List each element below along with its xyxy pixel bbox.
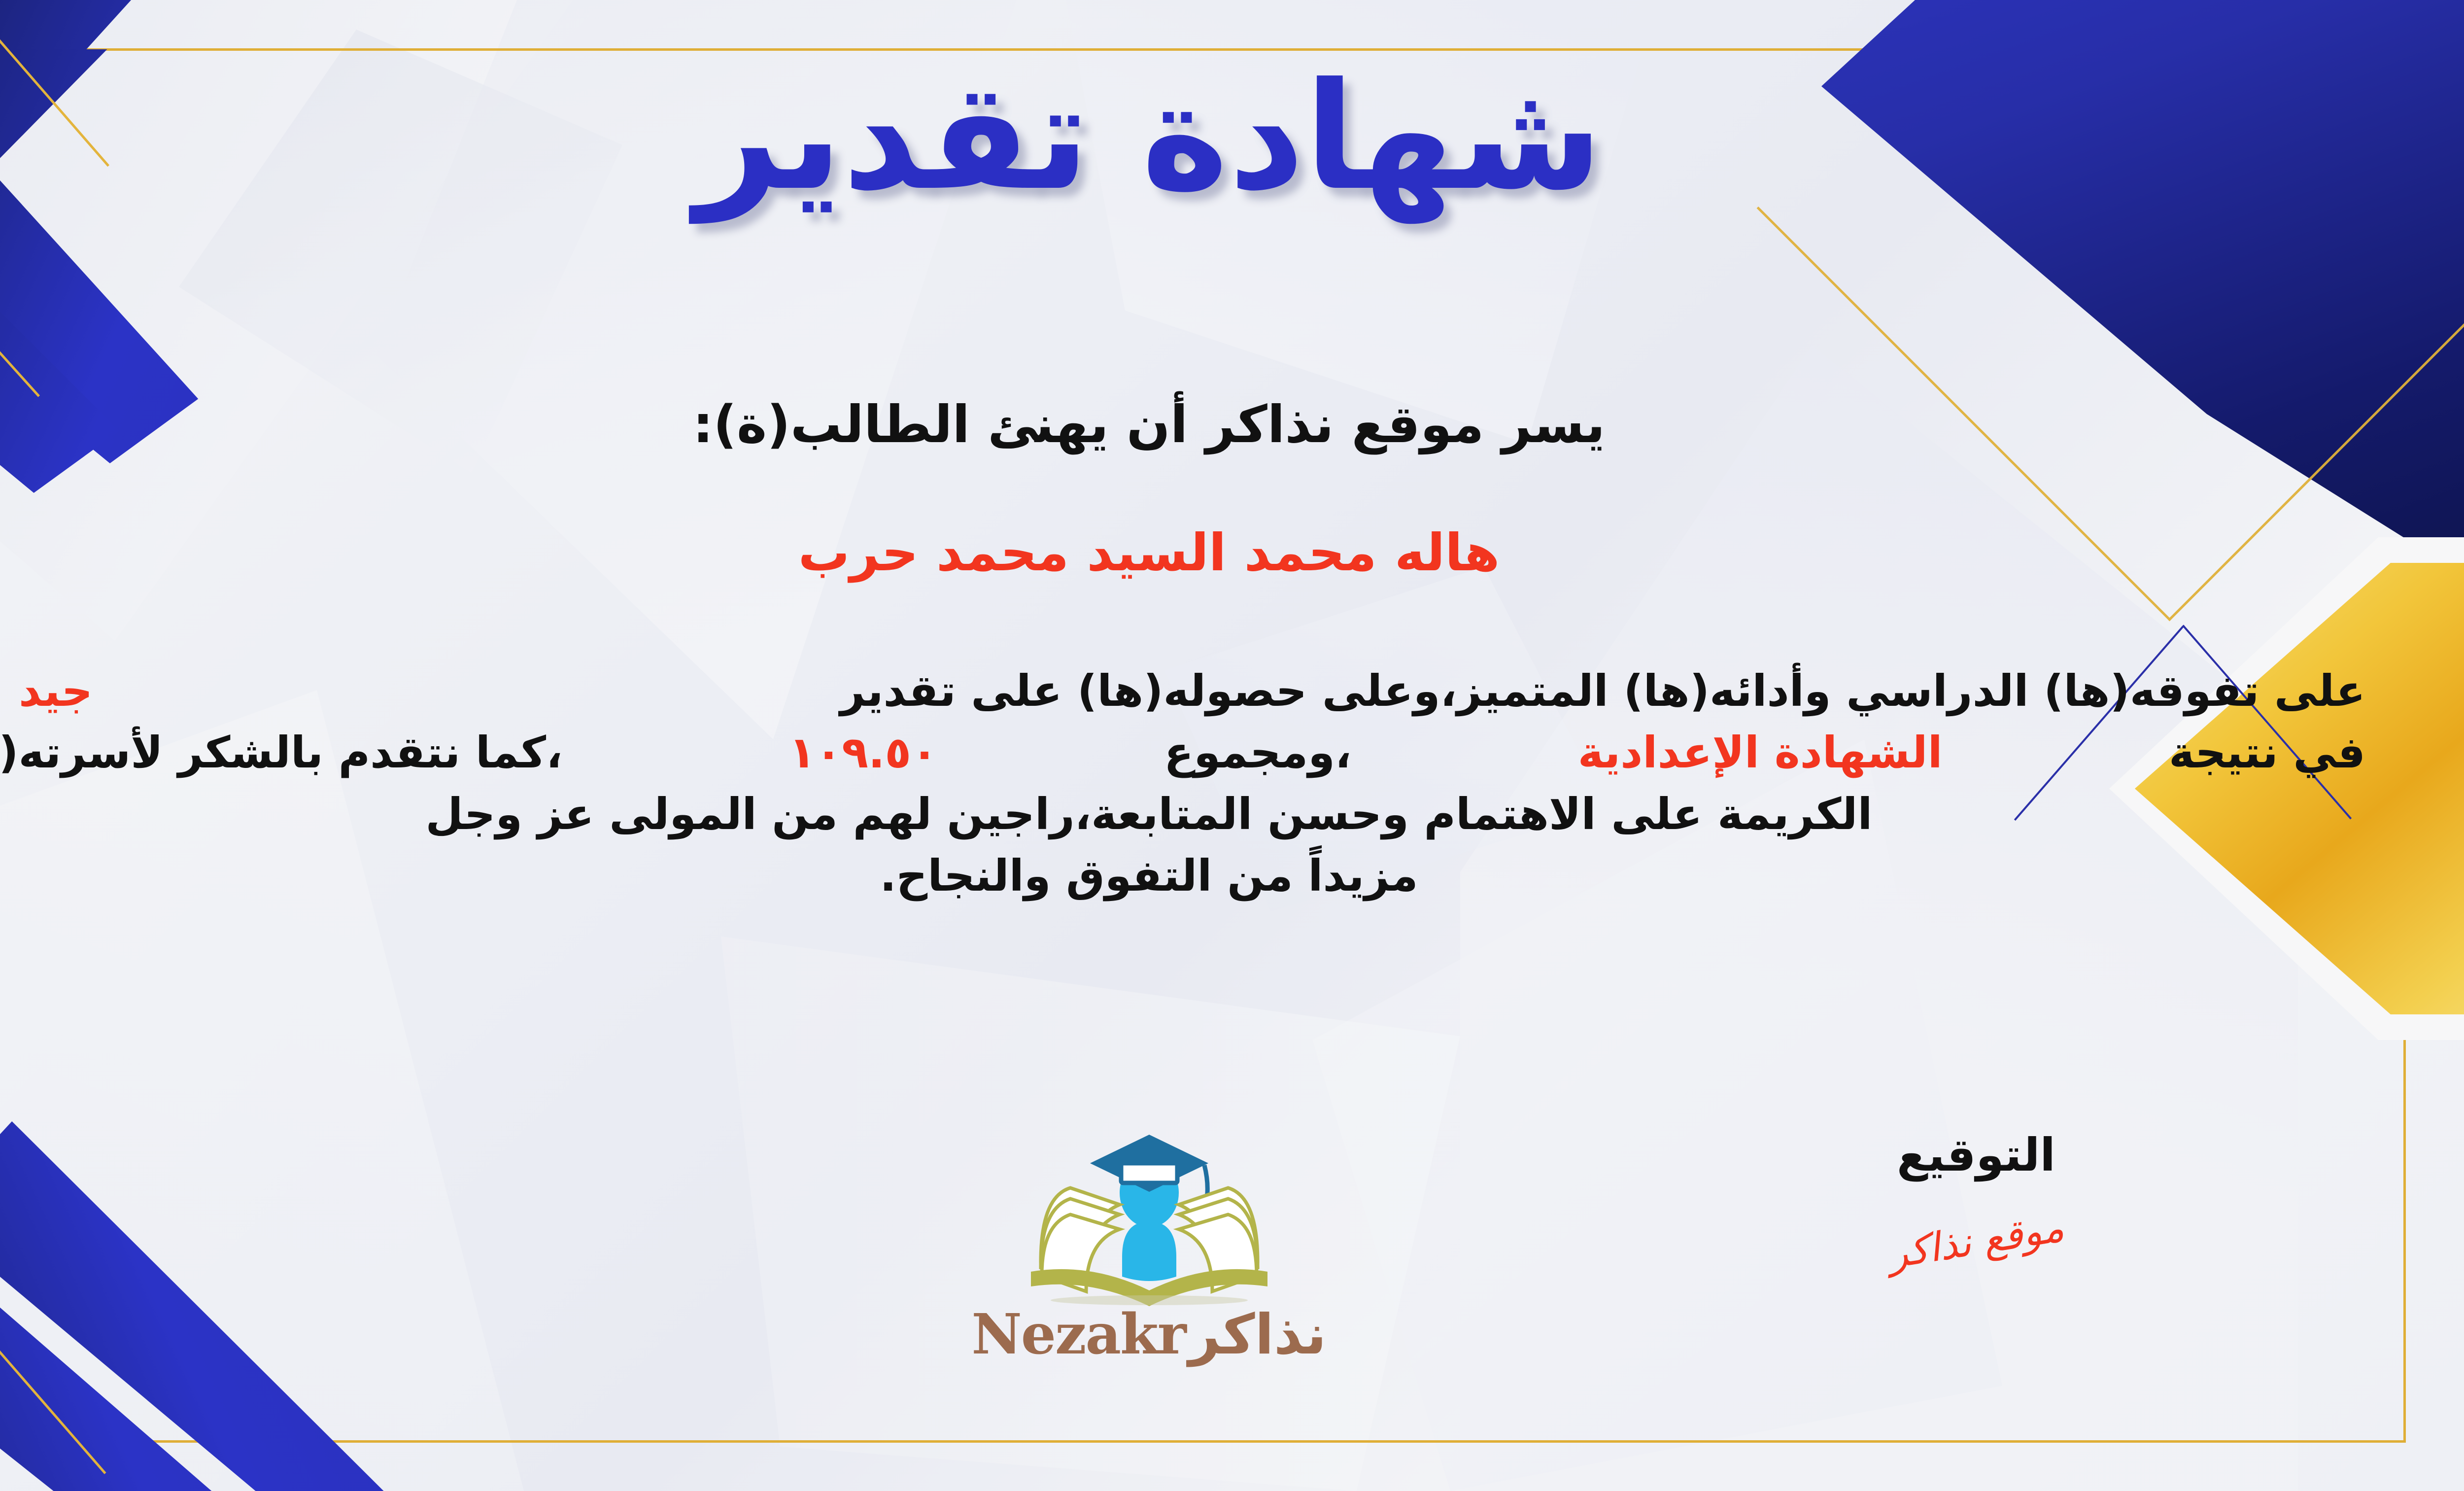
greeting-line: يسر موقع نذاكر أن يهنئ الطالب(ة): [0,394,2365,454]
exam-name: الشهادة الإعدادية [1578,722,1943,784]
site-logo: Nezakr نذاكر [0,1114,2365,1367]
certificate-title: شهادة تقدير [0,59,2365,214]
body-line-1-text: على تفوقه(ها) الدراسي وأدائه(ها) المتميز… [840,660,2365,722]
logo-arabic-text: نذاكر [1189,1303,1327,1367]
certificate-canvas: شهادة تقدير يسر موقع نذاكر أن يهنئ الطال… [0,0,2464,1491]
body-line-4: مزيداً من التفوق والنجاح. [0,845,2365,907]
body-line-2: في نتيجة الشهادة الإعدادية ،ومجموع ١٠٩.٥… [0,722,2365,784]
body-line-3: الكريمة على الاهتمام وحسن المتابعة،راجين… [0,784,2365,845]
certificate-body: على تفوقه(ها) الدراسي وأدائه(ها) المتميز… [0,660,2365,907]
result-prefix: في نتيجة [2169,722,2365,784]
total-score: ١٠٩.٥٠ [789,722,938,784]
graduate-book-logo-icon [1011,1114,1287,1306]
thanks-text: ،كما نتقدم بالشكر لأسرته(ها) [0,722,563,784]
grade-value: جيد جداً [0,660,93,722]
body-line-1: على تفوقه(ها) الدراسي وأدائه(ها) المتميز… [0,660,2365,722]
student-name: هاله محمد السيد محمد حرب [0,522,2365,583]
total-label: ،ومجموع [1164,722,1351,784]
logo-wordmark: Nezakr نذاكر [971,1302,1326,1367]
certificate-content: شهادة تقدير يسر موقع نذاكر أن يهنئ الطال… [0,0,2365,1491]
logo-latin-text: Nezakr [971,1302,1185,1367]
